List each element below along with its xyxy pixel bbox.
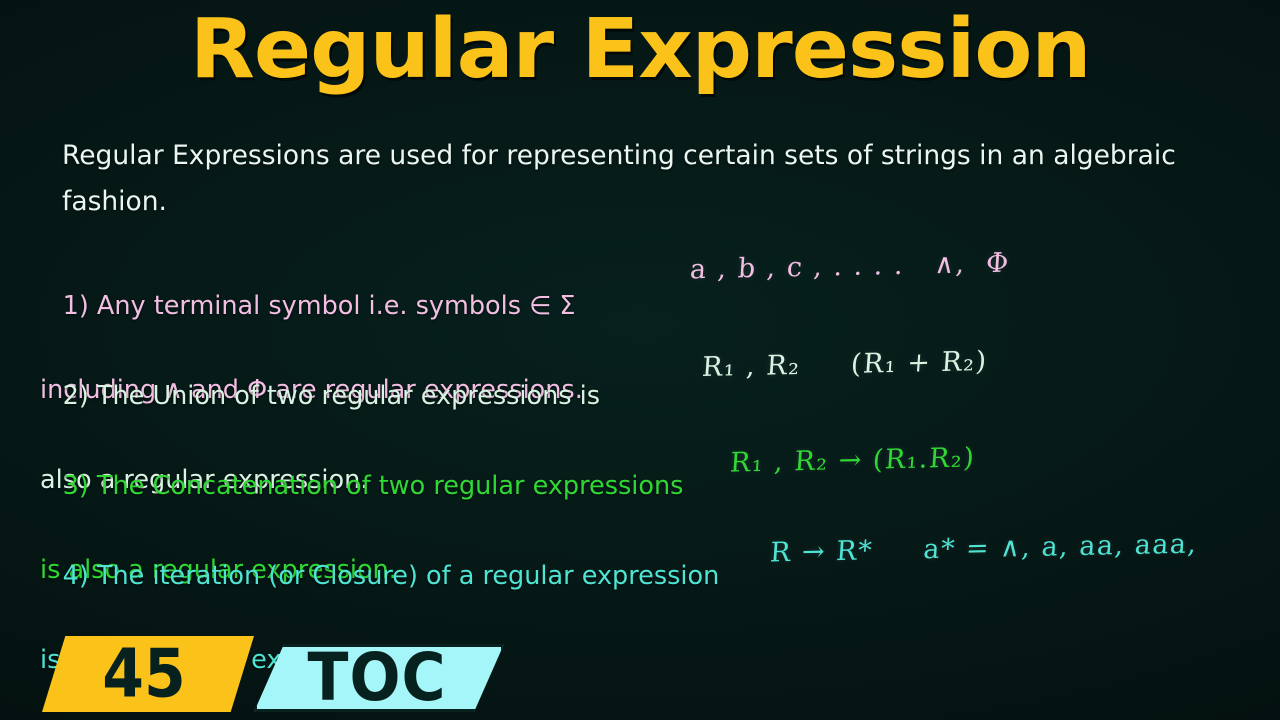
rule-2-line1: 2) The Union of two regular expressions … [63, 381, 600, 411]
rule-3-line1: 3) The Concatenation of two regular expr… [63, 471, 684, 501]
page-title: Regular Expression [190, 2, 1091, 98]
rule-1-line1: 1) Any terminal symbol i.e. symbols ∈ Σ [63, 291, 576, 321]
rule-3-annotation: R₁ , R₂ → (R₁.R₂) [729, 440, 977, 481]
rule-4-line1: 4) The iteration (or Closure) of a regul… [63, 561, 720, 591]
rule-4-annotation: R → R* a* = ∧, a, aa, aaa, [769, 526, 1199, 571]
course-code-chip: TOC [254, 644, 504, 712]
intro-paragraph: Regular Expressions are used for represe… [62, 133, 1192, 225]
rule-item-1: 1) Any terminal symbol i.e. symbols ∈ Σ … [14, 243, 1270, 333]
rule-item-2: 2) The Union of two regular expressions … [14, 333, 1270, 423]
lesson-number-label: 45 [102, 640, 186, 707]
course-code-label: TOC [308, 645, 447, 711]
rule-item-4: 4) The iteration (or Closure) of a regul… [14, 513, 1270, 603]
slide-canvas: Regular Expression Regular Expressions a… [0, 0, 1280, 720]
rule-2-annotation: R₁ , R₂ (R₁ + R₂) [701, 344, 989, 386]
lesson-number-chip: 45 [42, 636, 254, 712]
rule-item-3: 3) The Concatenation of two regular expr… [14, 423, 1270, 513]
rule-1-annotation: a , b , c , . . . . ∧, Φ [689, 246, 1011, 289]
title-bar: Regular Expression [0, 2, 1280, 98]
